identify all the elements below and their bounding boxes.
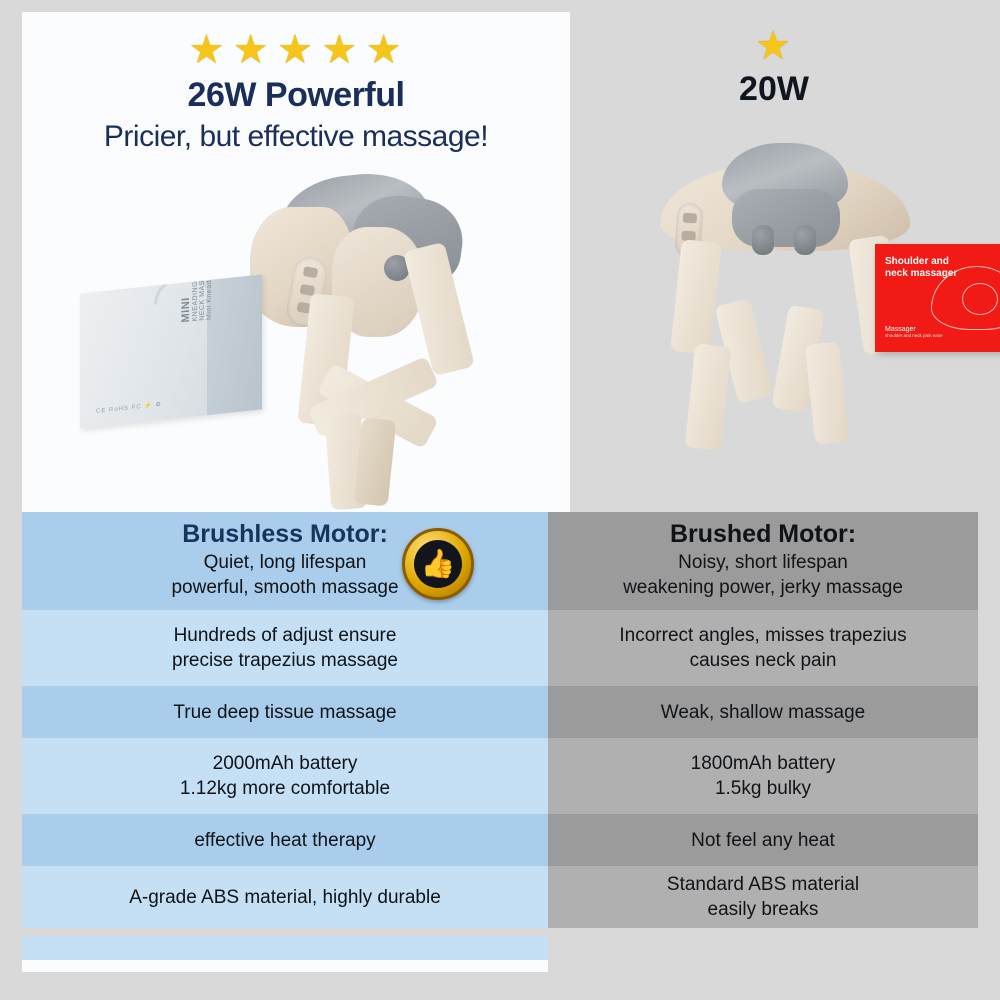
star-icon: ★: [366, 30, 404, 70]
cell-left-motor: Brushless Motor: Quiet, long lifespan po…: [22, 512, 548, 610]
box-footer: Massager shoulder and neck pain ease: [885, 326, 943, 338]
product-panels: ★ ★ ★ ★ ★ 26W Powerful Pricier, but effe…: [0, 0, 1000, 512]
cell-right-tissue: Weak, shallow massage: [548, 686, 978, 738]
box-brand-line1: MINI: [180, 297, 192, 323]
cell-left-tissue: True deep tissue massage: [22, 686, 548, 738]
box-brand-line3: NECK MASSAGER: [199, 274, 206, 321]
right-headline: 20W: [570, 70, 978, 109]
thumbs-up-icon: 👍: [414, 540, 462, 588]
cell-right-material: Standard ABS material easily breaks: [548, 866, 978, 928]
bottom-white-strip: [22, 960, 548, 972]
table-row: Brushless Motor: Quiet, long lifespan po…: [22, 512, 978, 610]
thumbs-up-badge: 👍: [402, 528, 474, 600]
box-certifications: CE RoHS FC ⚡ ♻: [96, 401, 162, 415]
left-heat-line1: effective heat therapy: [36, 828, 534, 853]
strap-tail-right: [805, 341, 849, 444]
strap-left: [670, 239, 721, 355]
left-product-box: MINI KNEADING NECK MASSAGER Mini Kneadin…: [80, 274, 262, 428]
right-product-panel: ★ 20W: [570, 12, 978, 512]
left-battery-line2: 1.12kg more comfortable: [36, 776, 534, 801]
cell-left-material: A-grade ABS material, highly durable: [22, 866, 548, 928]
right-battery-line2: 1.5kg bulky: [562, 776, 964, 801]
left-material-line1: A-grade ABS material, highly durable: [36, 885, 534, 910]
bottom-blue-strip: [22, 936, 548, 960]
massage-node: [794, 225, 816, 255]
left-tissue-line1: True deep tissue massage: [36, 700, 534, 725]
box-brand-small: Mini Kneading Neck Massager: [206, 274, 213, 320]
left-adjust-line2: precise trapezius massage: [36, 648, 534, 673]
right-tissue-line1: Weak, shallow massage: [562, 700, 964, 725]
table-row: A-grade ABS material, highly durable Sta…: [22, 866, 978, 928]
box-footer-small: shoulder and neck pain ease: [885, 333, 943, 338]
cell-right-battery: 1800mAh battery 1.5kg bulky: [548, 738, 978, 814]
cell-left-adjust: Hundreds of adjust ensure precise trapez…: [22, 610, 548, 686]
cell-left-heat: effective heat therapy: [22, 814, 548, 866]
right-motor-line2: weakening power, jerky massage: [562, 575, 964, 600]
box-footer-text: Massager: [885, 326, 916, 333]
table-row: effective heat therapy Not feel any heat: [22, 814, 978, 866]
left-adjust-line1: Hundreds of adjust ensure: [36, 623, 534, 648]
cell-right-motor: Brushed Motor: Noisy, short lifespan wea…: [548, 512, 978, 610]
star-icon: ★: [755, 26, 793, 66]
box-brand-text: MINI KNEADING NECK MASSAGER Mini Kneadin…: [180, 274, 213, 323]
right-star-rating: ★: [570, 26, 978, 66]
comparison-infographic: ★ ★ ★ ★ ★ 26W Powerful Pricier, but effe…: [0, 0, 1000, 1000]
right-adjust-line2: causes neck pain: [562, 648, 964, 673]
left-headline: 26W Powerful: [22, 76, 570, 115]
star-icon: ★: [321, 30, 359, 70]
cell-right-adjust: Incorrect angles, misses trapezius cause…: [548, 610, 978, 686]
box-brand-line2: KNEADING: [192, 274, 199, 321]
table-row: 2000mAh battery 1.12kg more comfortable …: [22, 738, 978, 814]
box-title-line1: Shoulder and: [885, 256, 949, 267]
comparison-table: Brushless Motor: Quiet, long lifespan po…: [22, 512, 978, 928]
massage-node: [752, 225, 774, 255]
star-icon: ★: [233, 30, 271, 70]
left-battery-line1: 2000mAh battery: [36, 751, 534, 776]
left-star-rating: ★ ★ ★ ★ ★: [22, 30, 570, 70]
right-product-box: Shoulder and neck massager Massager shou…: [875, 244, 1000, 352]
left-massager-image: [232, 167, 532, 507]
cell-right-heat: Not feel any heat: [548, 814, 978, 866]
box-side-face: [207, 274, 262, 415]
star-icon: ★: [188, 30, 226, 70]
right-material-line2: easily breaks: [562, 897, 964, 922]
cell-left-battery: 2000mAh battery 1.12kg more comfortable: [22, 738, 548, 814]
left-subheadline: Pricier, but effective massage!: [22, 120, 570, 154]
table-row: True deep tissue massage Weak, shallow m…: [22, 686, 978, 738]
right-motor-title: Brushed Motor:: [562, 522, 964, 547]
strap-tail-left: [685, 343, 732, 450]
right-battery-line1: 1800mAh battery: [562, 751, 964, 776]
table-row: Hundreds of adjust ensure precise trapez…: [22, 610, 978, 686]
left-product-panel: ★ ★ ★ ★ ★ 26W Powerful Pricier, but effe…: [22, 12, 570, 524]
right-motor-line1: Noisy, short lifespan: [562, 550, 964, 575]
right-heat-line1: Not feel any heat: [562, 828, 964, 853]
right-adjust-line1: Incorrect angles, misses trapezius: [562, 623, 964, 648]
right-material-line1: Standard ABS material: [562, 872, 964, 897]
star-icon: ★: [277, 30, 315, 70]
massage-head-housing: [732, 189, 840, 247]
